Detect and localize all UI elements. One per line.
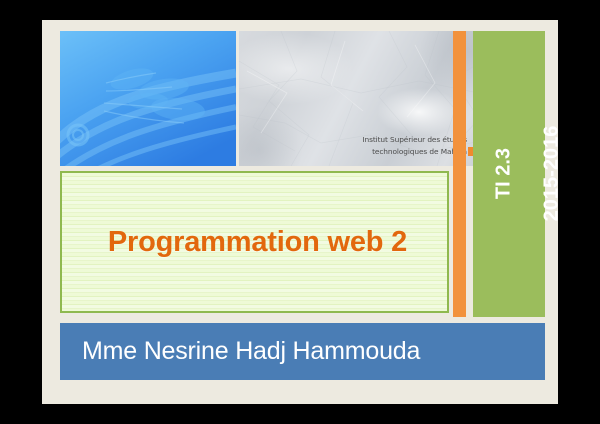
academic-year-label: 2015-2016 [541,109,564,239]
institute-name: Institut Supérieur des études technologi… [362,134,467,157]
green-side-panel: TI 2.3 2015-2016 [473,31,545,317]
slide-title: Programmation web 2 [62,226,447,259]
institute-line-2: technologiques de Mahdia [362,146,467,158]
institute-line-1: Institut Supérieur des études [362,134,467,146]
presentation-slide: Institut Supérieur des études technologi… [42,20,558,404]
title-box: Programmation web 2 [60,171,449,313]
orange-accent-strip [453,31,466,317]
blue-swirl-graphic [60,31,236,166]
institute-paper-image: Institut Supérieur des études technologi… [239,31,489,166]
slide-canvas: Institut Supérieur des études technologi… [0,0,600,424]
author-bar: Mme Nesrine Hadj Hammouda [60,323,545,380]
class-label: TI 2.3 [493,122,516,226]
blue-swirl-image [60,31,236,166]
author-name: Mme Nesrine Hadj Hammouda [60,337,420,366]
